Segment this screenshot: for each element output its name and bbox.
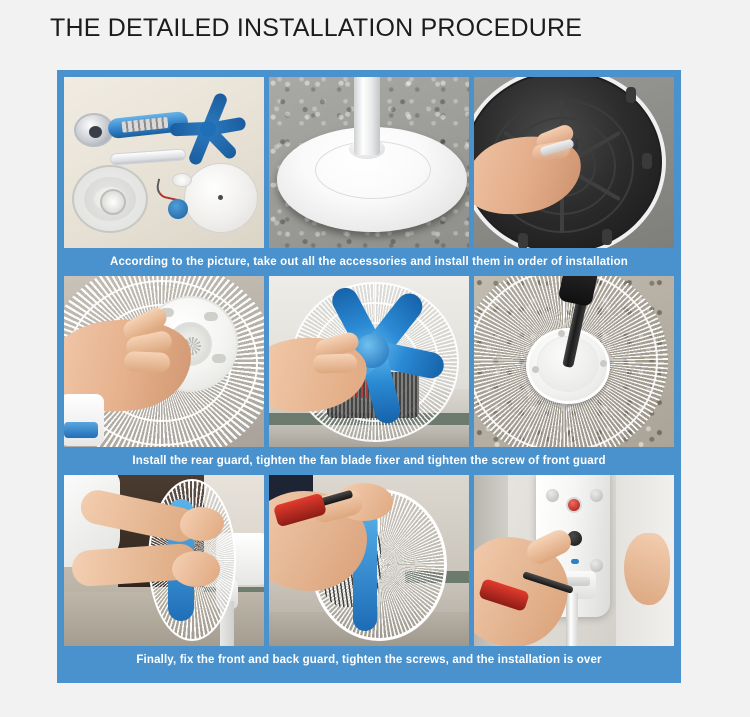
finger — [124, 351, 171, 373]
hand — [172, 551, 220, 587]
hand — [624, 533, 670, 605]
control-button — [590, 559, 603, 572]
base-tab — [626, 87, 636, 103]
control-button — [590, 489, 603, 502]
fan-pole — [354, 77, 380, 155]
base-tab — [518, 233, 528, 248]
photo-fixing-control-housing — [474, 475, 674, 646]
step-1-caption: According to the picture, take out all t… — [64, 248, 674, 276]
hub-slot — [204, 312, 218, 321]
fan-pole — [566, 593, 578, 646]
photo-attaching-front-guard — [64, 475, 264, 646]
control-button — [546, 489, 559, 502]
power-indicator — [566, 497, 582, 513]
finger — [313, 353, 358, 374]
photo-fan-parts-laid-out — [64, 77, 264, 248]
step-1-photo-row — [64, 77, 674, 248]
base-tab — [602, 229, 612, 245]
step-2-photo-row — [64, 276, 674, 447]
step-3-photo-row — [64, 475, 674, 646]
knob-part — [168, 199, 188, 219]
base-tab — [642, 153, 652, 169]
photo-hand-tightening-base-bolt — [474, 77, 674, 248]
blue-marker — [571, 559, 579, 564]
cap-part — [172, 173, 192, 187]
procedure-panel: According to the picture, take out all t… — [57, 70, 681, 683]
page-title: THE DETAILED INSTALLATION PROCEDURE — [50, 14, 582, 43]
procedure-step-2: Install the rear guard, tighten the fan … — [64, 276, 674, 475]
hub-slot — [212, 354, 226, 363]
cap-nub — [532, 366, 539, 373]
installation-procedure-page: THE DETAILED INSTALLATION PROCEDURE — [0, 0, 750, 717]
rear-guard-part — [72, 165, 148, 233]
procedure-step-3: Finally, fix the front and back guard, t… — [64, 475, 674, 674]
base-cover-part — [184, 163, 258, 233]
step-3-caption: Finally, fix the front and back guard, t… — [64, 646, 674, 674]
cap-nub — [600, 360, 607, 367]
photo-fan-blade-on-guard — [269, 276, 469, 447]
photo-screwdriver-on-front-guard-cap — [474, 276, 674, 447]
photo-installing-rear-guard — [64, 276, 264, 447]
spray-bottle — [64, 394, 104, 446]
procedure-step-1: According to the picture, take out all t… — [64, 77, 674, 276]
photo-screwdriver-fixing-clip — [269, 475, 469, 646]
cap-nub — [558, 330, 565, 337]
step-2-caption: Install the rear guard, tighten the fan … — [64, 447, 674, 475]
blade-hub-part — [200, 121, 216, 137]
photo-fan-base-with-pole — [269, 77, 469, 248]
